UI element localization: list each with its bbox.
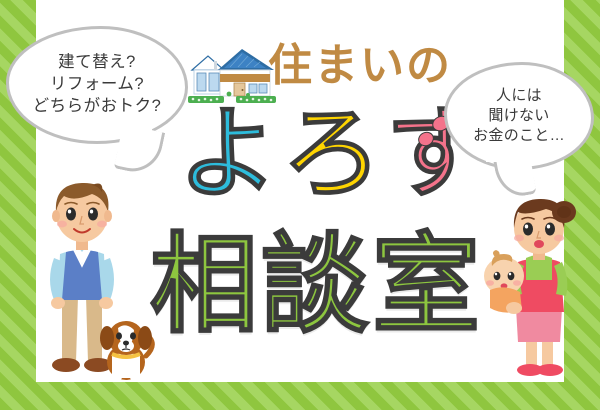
title-char-yo: よ (178, 104, 282, 204)
banner-root: 住まいの よろす 相談室 建て替え? リフォーム? どちらがおトク? 人には 聞… (0, 0, 600, 410)
title-subtitle: 相談室 (150, 232, 483, 340)
dog-character (96, 312, 156, 384)
left-speech-bubble: 建て替え? リフォーム? どちらがおトク? (6, 26, 188, 144)
bubble-tail-mask (486, 146, 534, 162)
woman-with-baby-character (478, 196, 590, 384)
title-prefix: 住まいの (268, 44, 452, 88)
bubble-tail-mask (104, 120, 152, 138)
title-char-ro: ろ (282, 104, 386, 204)
